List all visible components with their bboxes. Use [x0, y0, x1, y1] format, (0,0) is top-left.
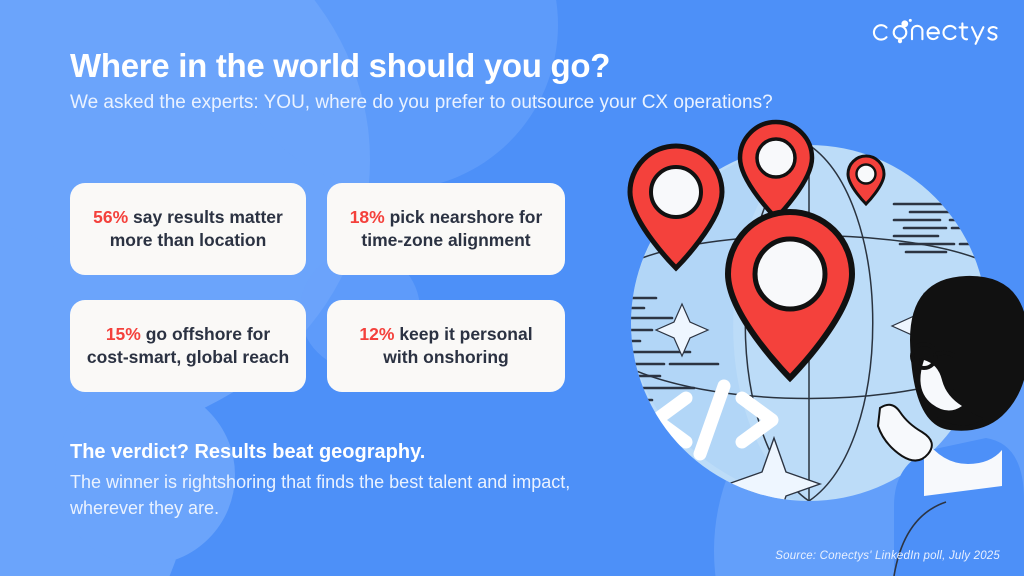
infographic-canvas: Where in the world should you go? We ask…: [0, 0, 1024, 576]
globe-gridlines: [634, 145, 984, 501]
stat-percent: 12%: [359, 324, 394, 344]
globe-illustration: [594, 108, 1024, 576]
stat-card: 12% keep it personal with onshoring: [327, 300, 565, 392]
person-beard: [919, 358, 984, 426]
sparkle-right-icon: [892, 294, 956, 358]
stat-card-text: 12% keep it personal with onshoring: [341, 323, 551, 370]
stat-label: say results matter more than location: [110, 207, 283, 250]
map-pin-top: [740, 122, 812, 218]
stat-percent: 56%: [93, 207, 128, 227]
logo-wordmark-svg: [870, 14, 1002, 48]
map-pin-large: [728, 212, 852, 378]
map-pin-medium: [630, 146, 722, 268]
code-lines-left: [608, 298, 718, 400]
background-blob: [714, 336, 1024, 576]
person-face: [920, 360, 962, 411]
stat-card: 18% pick nearshore for time-zone alignme…: [327, 183, 565, 275]
stat-card-text: 56% say results matter more than locatio…: [84, 206, 292, 253]
person-thinking-illustration: [878, 276, 1024, 576]
stat-percent: 15%: [106, 324, 141, 344]
person-hair: [910, 276, 1024, 431]
globe-sphere: [631, 145, 987, 501]
source-attribution: Source: Conectys' LinkedIn poll, July 20…: [775, 550, 1000, 562]
stat-label: keep it personal with onshoring: [383, 324, 532, 367]
code-lines-right: [894, 204, 1004, 252]
person-glasses-icon: [912, 344, 954, 368]
verdict-title: The verdict? Results beat geography.: [70, 441, 425, 464]
page-subtitle: We asked the experts: YOU, where do you …: [70, 90, 850, 117]
sparkle-left-icon: [656, 304, 708, 356]
molecule-node-icon: [909, 19, 912, 22]
map-pin-small: [848, 156, 884, 204]
person-hand: [878, 405, 932, 461]
stat-card-text: 18% pick nearshore for time-zone alignme…: [341, 206, 551, 253]
verdict-body: The winner is rightshoring that finds th…: [70, 470, 630, 521]
molecule-node-icon: [901, 20, 908, 27]
code-symbol-icon: [656, 386, 772, 454]
stat-card-text: 15% go offshore for cost-smart, global r…: [84, 323, 292, 370]
stat-percent: 18%: [350, 207, 385, 227]
stat-card: 56% say results matter more than locatio…: [70, 183, 306, 275]
sparkle-bottom-icon: [728, 438, 820, 532]
shirt-fold: [894, 502, 946, 576]
stat-card: 15% go offshore for cost-smart, global r…: [70, 300, 306, 392]
person-neck: [924, 438, 1002, 496]
stat-label: pick nearshore for time-zone alignment: [361, 207, 542, 250]
molecule-node-icon: [898, 39, 902, 43]
page-title: Where in the world should you go?: [70, 47, 610, 85]
conectys-logo: [870, 14, 1002, 48]
globe-shade: [631, 145, 809, 501]
